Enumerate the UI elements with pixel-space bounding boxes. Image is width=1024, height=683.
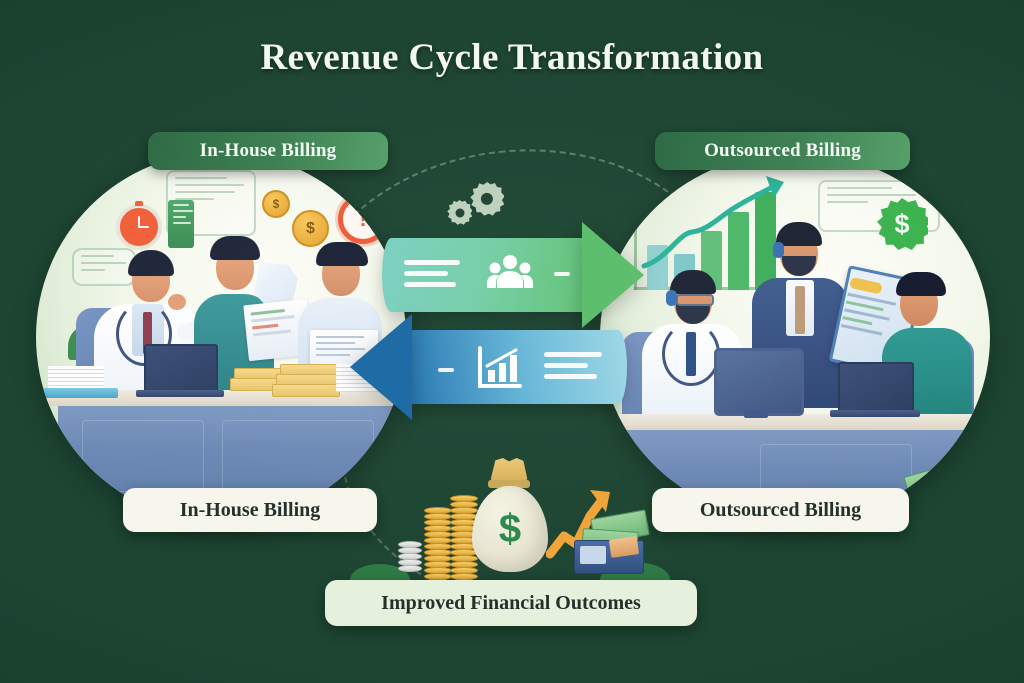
label-bottom-in-house-billing[interactable]: In-House Billing	[123, 488, 377, 532]
person-specialist-hair	[776, 222, 822, 246]
money-cluster: $	[360, 452, 660, 587]
label-text: In-House Billing	[180, 499, 321, 522]
arrow-dash-mark	[554, 272, 570, 276]
stethoscope-icon	[662, 322, 720, 386]
bar-chart-icon	[474, 344, 522, 392]
monitor-stand	[744, 410, 768, 418]
laptop-base	[830, 410, 920, 417]
desk-drawer	[222, 420, 374, 492]
infographic-canvas: Revenue Cycle Transformation $	[0, 0, 1024, 683]
money-bag-neck	[490, 458, 528, 482]
person-doctor-beard	[676, 304, 710, 324]
card-terminal-screen	[580, 546, 606, 564]
clock-icon	[116, 204, 162, 250]
claim-papers-lines	[251, 308, 302, 341]
page-title: Revenue Cycle Transformation	[0, 36, 1024, 79]
label-text: In-House Billing	[200, 140, 337, 162]
arrow-dash-mark	[438, 368, 454, 372]
file-folder	[272, 384, 340, 397]
desktop-monitor	[714, 348, 804, 416]
person-nurse-hair	[896, 272, 946, 296]
label-top-outsourced-billing[interactable]: Outsourced Billing	[655, 132, 910, 170]
person-nurse-hair	[210, 236, 260, 260]
document-icon	[168, 200, 194, 248]
label-improved-financial-outcomes[interactable]: Improved Financial Outcomes	[325, 580, 697, 626]
alert-icon: !	[338, 194, 388, 244]
teal-binder	[40, 388, 118, 398]
label-top-in-house-billing[interactable]: In-House Billing	[148, 132, 388, 170]
coin-dollar-icon-large: $	[292, 210, 329, 247]
team-icon	[486, 252, 534, 298]
clock-knob	[135, 201, 143, 206]
laptop-screen	[838, 362, 914, 416]
coin-dollar-icon-small: $	[262, 190, 290, 218]
coin-stack-silver	[398, 542, 422, 572]
headset-icon	[773, 242, 784, 258]
money-bag-icon: $	[472, 486, 548, 572]
headset-icon	[666, 290, 677, 306]
arrow-head	[582, 222, 644, 328]
laptop-screen	[144, 344, 218, 396]
desk-drawer	[82, 420, 204, 492]
arrow-head	[350, 314, 412, 420]
transform-arrow-left	[372, 330, 652, 406]
label-bottom-outsourced-billing[interactable]: Outsourced Billing	[652, 488, 909, 532]
transform-arrow-right	[382, 238, 662, 314]
glasses-icon	[676, 294, 714, 306]
label-text: Outsourced Billing	[700, 499, 861, 522]
laptop-base	[136, 390, 224, 397]
person-doctor-hand	[168, 294, 186, 310]
person-specialist-tie	[795, 286, 805, 334]
arrow-line-marks	[404, 260, 460, 293]
person-staff-hair	[316, 242, 368, 266]
desk-surface	[610, 414, 990, 430]
arrow-line-marks	[544, 352, 602, 385]
coin-stack-gold-short	[424, 508, 452, 586]
card-terminal-card	[609, 536, 639, 558]
ghost-card-icon	[72, 248, 136, 286]
label-text: Outsourced Billing	[704, 140, 861, 162]
label-text: Improved Financial Outcomes	[381, 592, 641, 615]
